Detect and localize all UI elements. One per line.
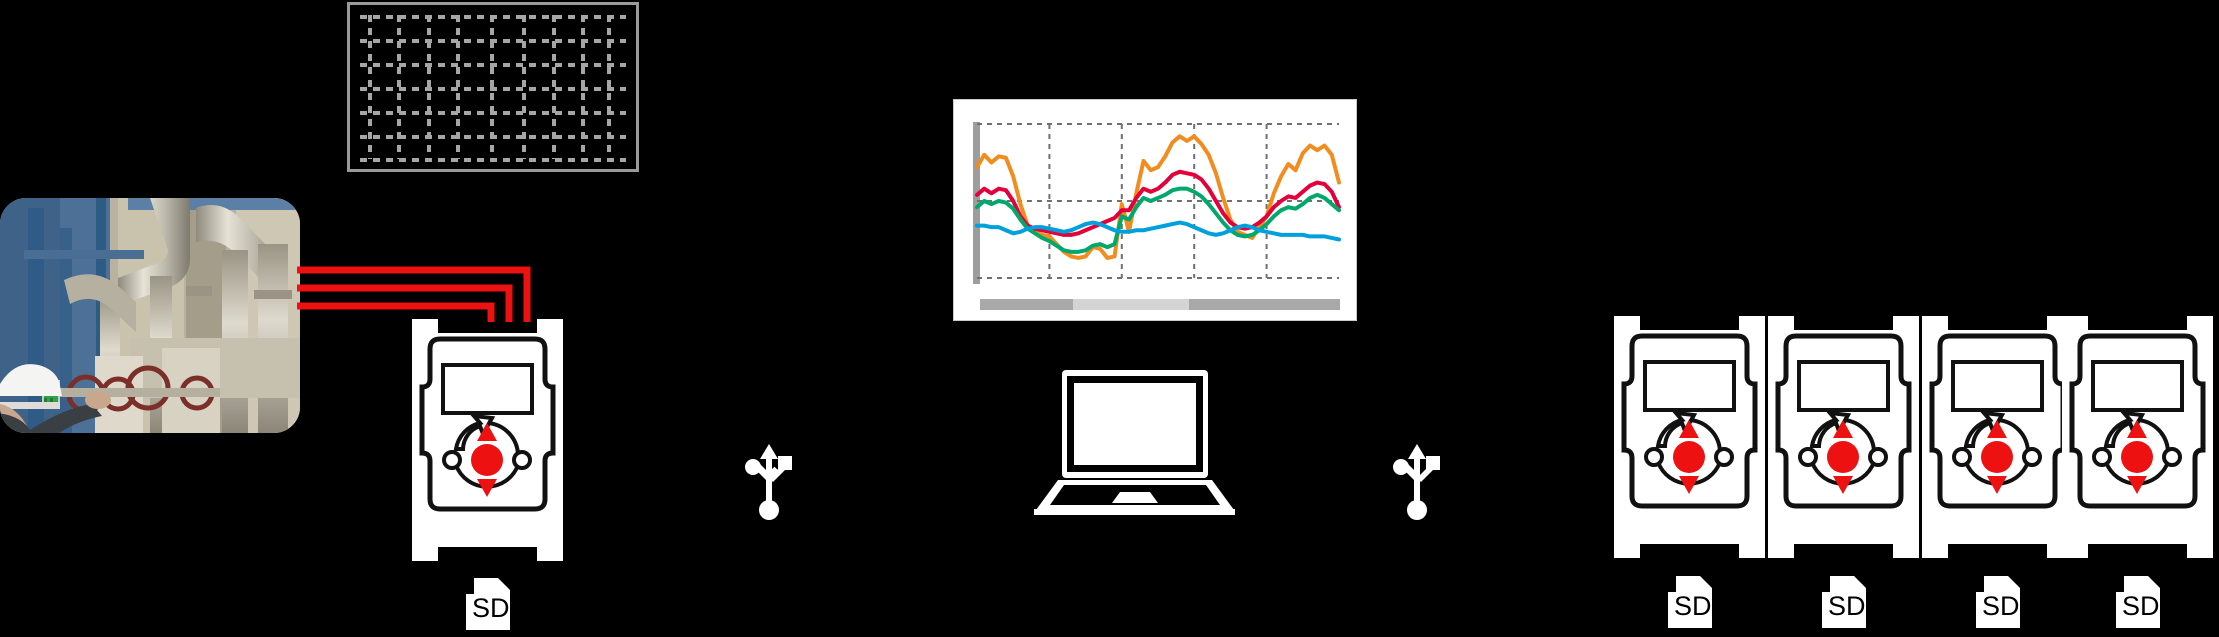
grid-vline bbox=[397, 15, 401, 159]
grid-vline bbox=[522, 15, 526, 159]
grid-vline bbox=[427, 15, 431, 159]
grid-vline bbox=[490, 15, 494, 159]
sd-card-label: SD bbox=[2122, 593, 2160, 620]
grid-vline bbox=[552, 15, 556, 159]
sd-card-label: SD bbox=[1828, 593, 1866, 620]
diagram-canvas: SD SD bbox=[0, 0, 2219, 637]
data-logger-4[interactable] bbox=[2060, 314, 2215, 560]
spreadsheet-grid bbox=[360, 15, 626, 159]
spreadsheet-thumbnail bbox=[347, 2, 639, 172]
industrial-plant-photo bbox=[0, 198, 300, 433]
sd-card-label: SD bbox=[1982, 593, 2020, 620]
grid-vline bbox=[581, 15, 585, 159]
data-logger-1[interactable] bbox=[1612, 314, 1767, 560]
grid-vline bbox=[368, 15, 372, 159]
grid-vline bbox=[607, 15, 611, 159]
usb-connection-left bbox=[742, 442, 796, 524]
measurement-chart-window bbox=[953, 99, 1357, 321]
data-logger-2[interactable] bbox=[1766, 314, 1921, 560]
data-logger-source[interactable] bbox=[410, 317, 565, 563]
sd-card-label: SD bbox=[472, 595, 510, 622]
usb-connection-right bbox=[1390, 442, 1444, 524]
grid-vline bbox=[456, 15, 460, 159]
data-logger-3[interactable] bbox=[1920, 314, 2075, 560]
chart-scrollbar-thumb[interactable] bbox=[1073, 299, 1189, 310]
sd-card-label: SD bbox=[1674, 593, 1712, 620]
laptop-computer bbox=[1032, 368, 1237, 518]
chart-plot-area bbox=[973, 118, 1343, 286]
chart-scrollbar[interactable] bbox=[980, 299, 1340, 310]
